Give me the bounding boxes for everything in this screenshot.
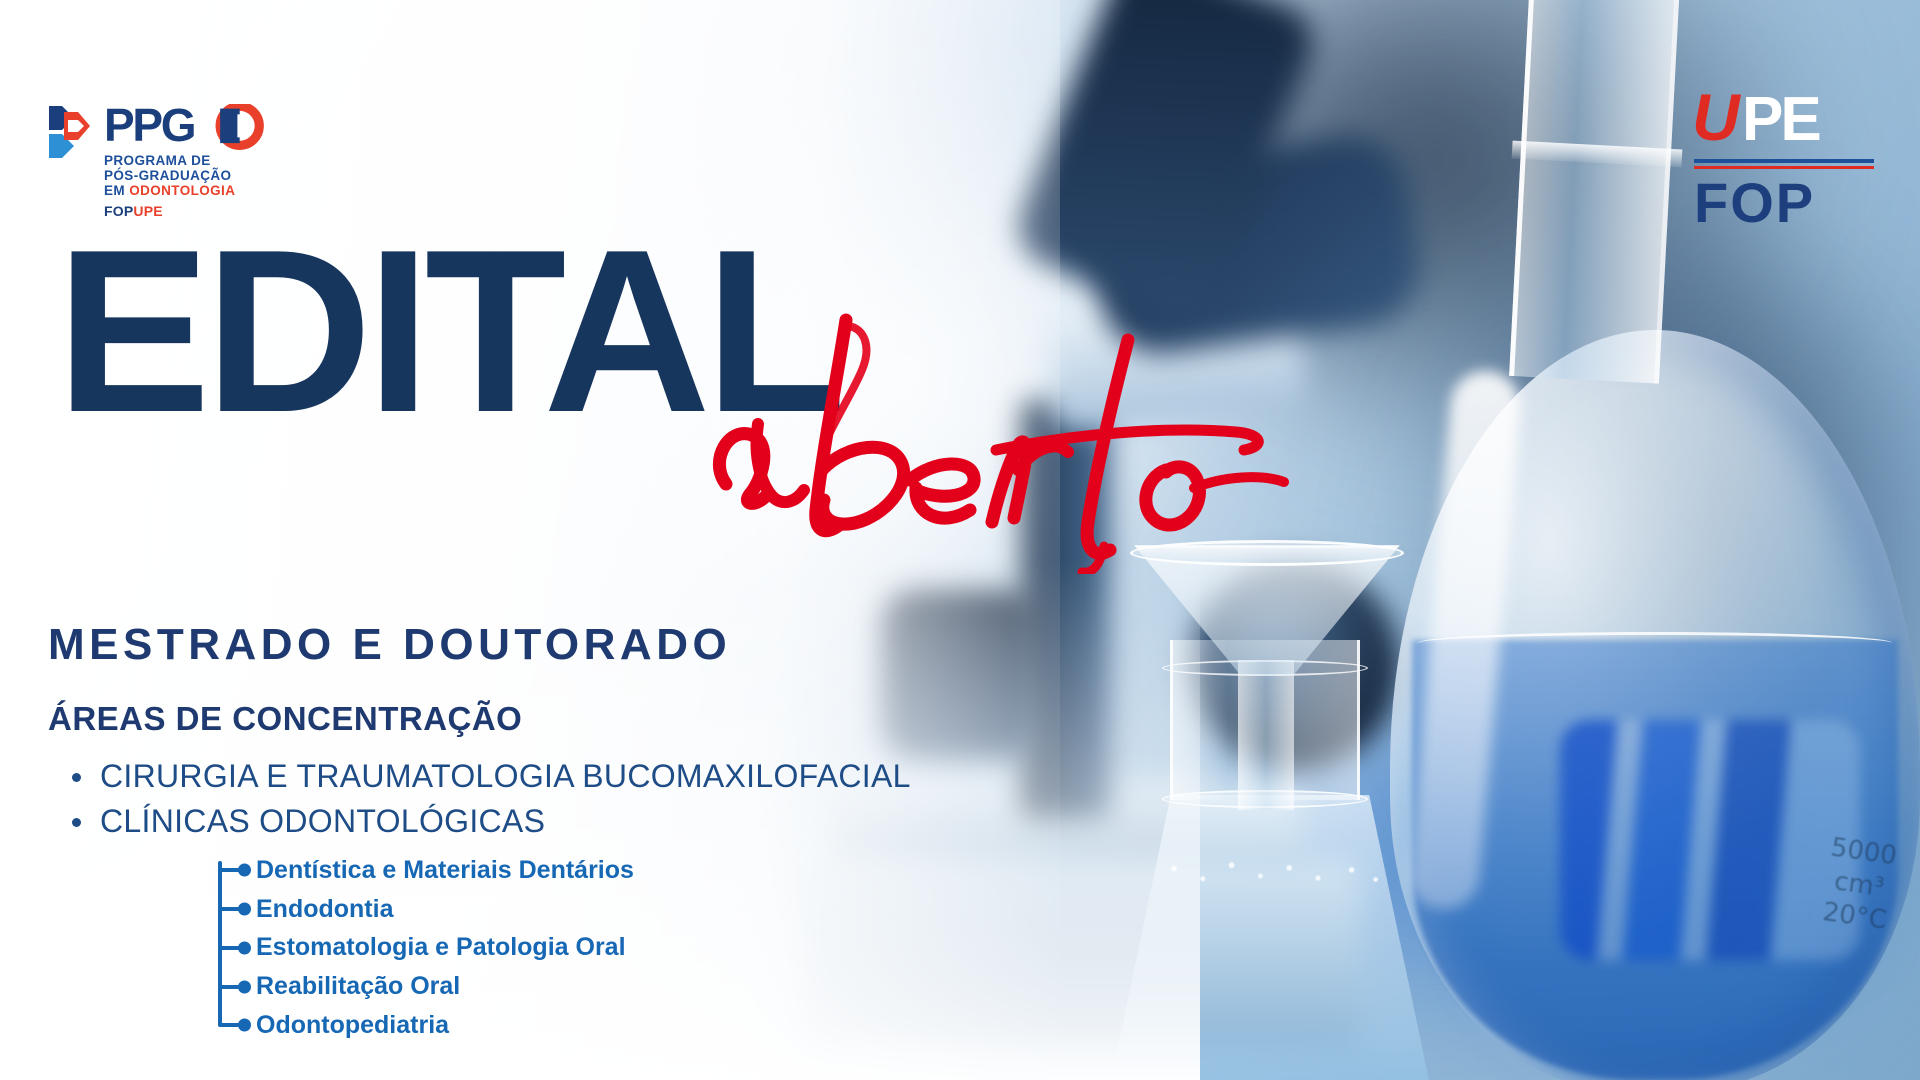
ppg-subtitle-line3-prefix: EM <box>104 183 129 198</box>
upe-unit-fop: FOP <box>1694 175 1874 231</box>
list-item: CIRURGIA E TRAUMATOLOGIA BUCOMAXILOFACIA… <box>48 754 1048 799</box>
upe-divider-blue <box>1694 159 1874 163</box>
upe-divider-red <box>1694 166 1874 169</box>
ppg-subtitle-odontologia: ODONTOLOGIA <box>129 183 235 198</box>
list-item: Dentística e Materiais Dentários <box>218 851 1048 890</box>
ppg-subtitle-line1: PROGRAMA DE <box>104 153 277 168</box>
ppg-subtitle-line2: PÓS-GRADUAÇÃO <box>104 168 277 183</box>
ppg-arrow-mark-icon <box>48 104 92 162</box>
subareas-list: Dentística e Materiais Dentários Endodon… <box>218 851 1048 1045</box>
list-item: Odontopediatria <box>218 1006 1048 1045</box>
ppg-subtitle: PROGRAMA DE PÓS-GRADUAÇÃO EM ODONTOLOGIA <box>104 153 277 198</box>
svg-text:PPG: PPG <box>104 104 194 150</box>
upe-letter-u: U <box>1694 86 1742 150</box>
list-item: Estomatologia e Patologia Oral <box>218 928 1048 967</box>
subareas-tree: Dentística e Materiais Dentários Endodon… <box>218 851 1048 1045</box>
volumetric-flask-neck-shape <box>1509 0 1681 384</box>
upe-letters-pe: PE <box>1742 86 1819 150</box>
list-item: Reabilitação Oral <box>218 967 1048 1006</box>
copy-block: MESTRADO E DOUTORADO ÁREAS DE CONCENTRAÇ… <box>48 620 1048 1045</box>
upe-wordmark-icon: U PE <box>1694 86 1874 150</box>
ppg-subtitle-line3: EM ODONTOLOGIA <box>104 183 277 198</box>
concentration-areas-list: CIRURGIA E TRAUMATOLOGIA BUCOMAXILOFACIA… <box>48 754 1048 845</box>
upe-fop-logo[interactable]: U PE FOP <box>1694 86 1874 231</box>
degrees-heading: MESTRADO E DOUTORADO <box>48 620 1048 670</box>
headline-block: EDITAL <box>56 228 1356 548</box>
list-item: Endodontia <box>218 890 1048 929</box>
funnel-stem-shape <box>1238 660 1294 810</box>
list-item: CLÍNICAS ODONTOLÓGICAS <box>48 799 1048 844</box>
ppg-wordmark-icon: PPG <box>104 104 277 150</box>
areas-heading: ÁREAS DE CONCENTRAÇÃO <box>48 700 1048 738</box>
aberto-script-wordmark <box>696 274 1336 574</box>
